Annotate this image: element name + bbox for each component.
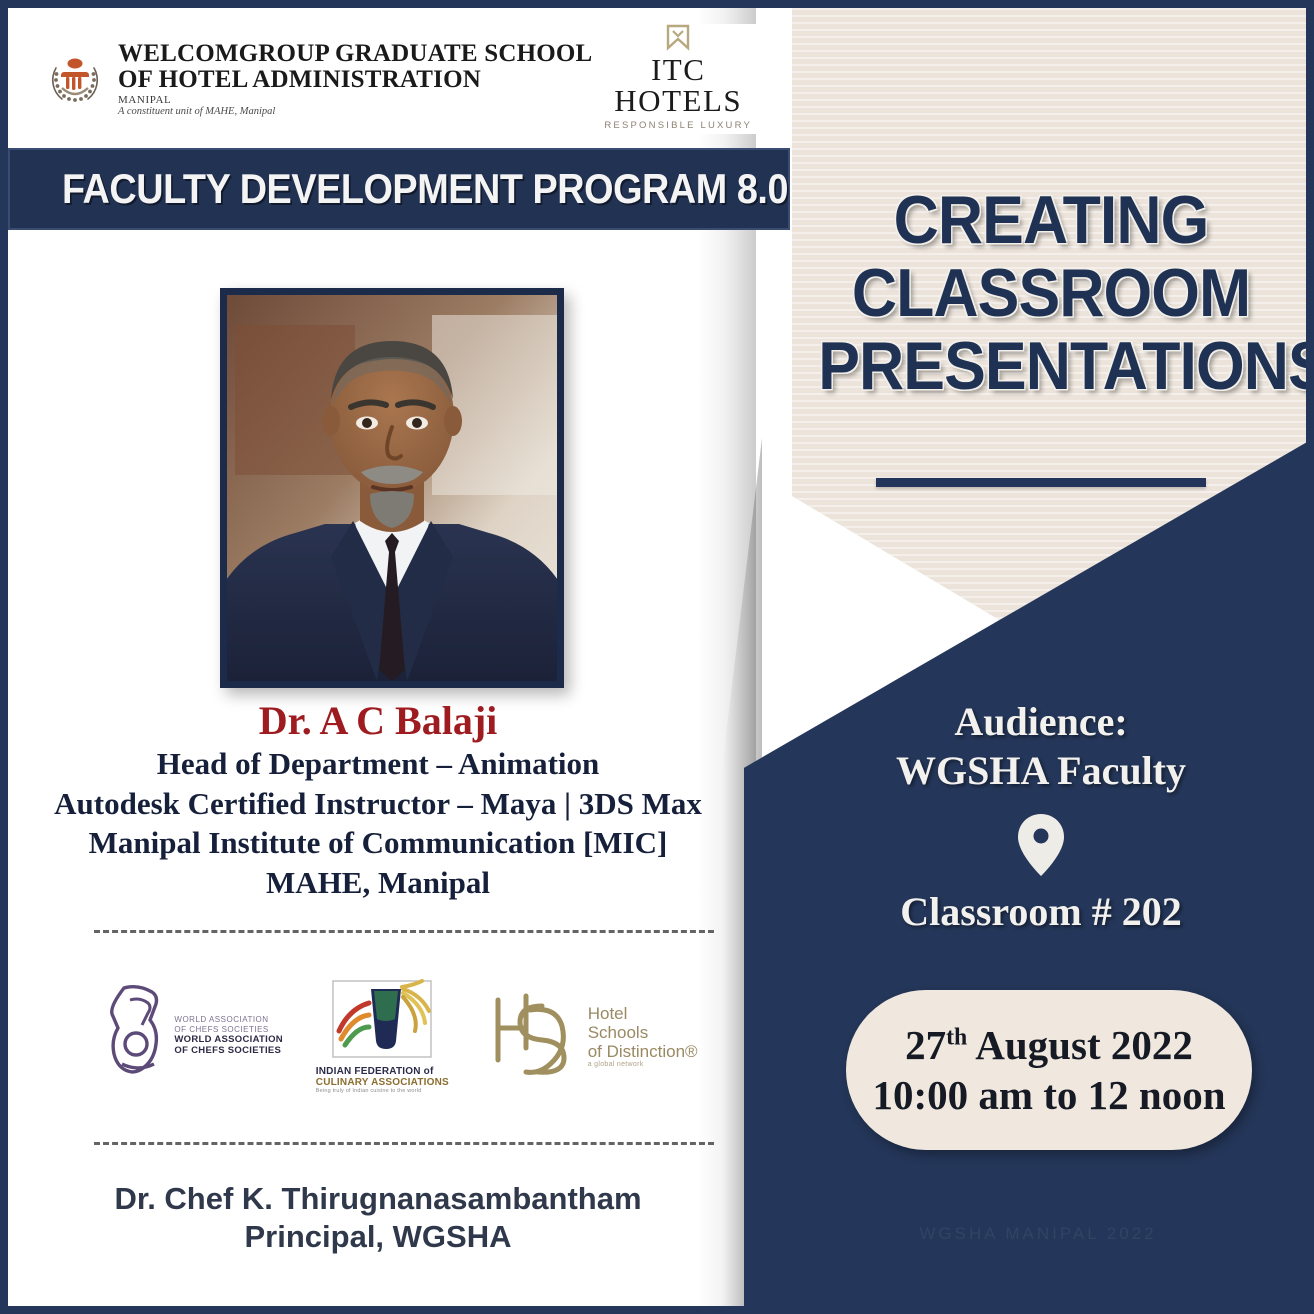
wacs-top-line1: WORLD ASSOCIATION [174,1015,283,1024]
date-time-pill: 27th August 2022 10:00 am to 12 noon [846,990,1252,1150]
principal-name: Dr. Chef K. Thirugnanasambantham [8,1180,748,1218]
partner-logo-wacs: WORLD ASSOCIATION OF CHEFS SOCIETIES WOR… [110,982,283,1091]
fdp-banner-text: FACULTY DEVELOPMENT PROGRAM 8.0 [62,165,788,213]
partner-logos: WORLD ASSOCIATION OF CHEFS SOCIETIES WOR… [94,966,714,1106]
wgsha-crest-icon [44,48,106,110]
wgsha-logo: WELCOMGROUP GRADUATE SCHOOL OF HOTEL ADM… [30,41,592,118]
wacs-name-line1: WORLD ASSOCIATION [174,1034,283,1045]
wacs-chef-icon [110,982,166,1091]
principal-title: Principal, WGSHA [8,1218,748,1256]
itc-hotels-logo: ITC HOTELS RESPONSIBLE LUXURY [592,23,764,135]
hsd-line2: Schools [588,1023,698,1042]
fdp-banner: FACULTY DEVELOPMENT PROGRAM 8.0 [8,148,790,230]
audience-value: WGSHA Faculty [768,747,1306,796]
ifca-emblem-icon [319,979,445,1064]
wgsha-wordmark: WELCOMGROUP GRADUATE SCHOOL OF HOTEL ADM… [118,41,592,118]
hsd-line1: Hotel [588,1004,698,1023]
itc-bookmark-icon [592,23,764,51]
speaker-photo [227,295,557,681]
event-time: 10:00 am to 12 noon [872,1070,1225,1120]
event-poster: WELCOMGROUP GRADUATE SCHOOL OF HOTEL ADM… [0,0,1314,1314]
speaker-photo-frame [220,288,564,688]
divider-below-partners [94,1142,714,1145]
ifca-line2: CULINARY ASSOCIATIONS [316,1077,449,1088]
hsd-line4: a global network [588,1061,698,1069]
session-title: CREATING CLASSROOM PRESENTATIONS [798,184,1304,402]
venue-room: Classroom # 202 [768,888,1306,935]
title-underline-rule [876,478,1206,487]
itc-hotels-name: ITC HOTELS [592,54,764,116]
poster-canvas: WELCOMGROUP GRADUATE SCHOOL OF HOTEL ADM… [8,8,1306,1306]
hsd-wordmark: Hotel Schools of Distinction® a global n… [588,1004,698,1069]
ifca-line3: Being truly of Indian cuisine to the wor… [316,1088,449,1094]
partner-logo-ifca: INDIAN FEDERATION of CULINARY ASSOCIATIO… [316,979,449,1094]
poster-header: WELCOMGROUP GRADUATE SCHOOL OF HOTEL ADM… [30,24,786,134]
ifca-line1: INDIAN FEDERATION of [316,1066,449,1077]
wacs-name-line2: OF CHEFS SOCIETIES [174,1045,283,1056]
speaker-name: Dr. A C Balaji [8,698,748,744]
speaker-certification: Autodesk Certified Instructor – Maya | 3… [8,784,748,824]
session-title-line2: CLASSROOM [818,257,1284,330]
speaker-university: MAHE, Manipal [8,863,748,903]
itc-hotels-tagline: RESPONSIBLE LUXURY [592,120,764,131]
event-date-rest: August 2022 [967,1022,1193,1068]
institution-name-line2: OF HOTEL ADMINISTRATION [118,67,592,92]
institution-name-line1: WELCOMGROUP GRADUATE SCHOOL [118,41,592,66]
audience-label: Audience: [768,698,1306,747]
divider-above-partners [94,930,714,933]
hsd-monogram-icon [482,986,578,1087]
wacs-top-line2: OF CHEFS SOCIETIES [174,1025,283,1034]
ifca-wordmark: INDIAN FEDERATION of CULINARY ASSOCIATIO… [316,1066,449,1094]
event-date-suffix: th [946,1024,967,1050]
partner-logo-hsd: Hotel Schools of Distinction® a global n… [482,986,698,1087]
speaker-designation: Head of Department – Animation [8,744,748,784]
session-title-line1: CREATING [818,184,1284,257]
principal-block: Dr. Chef K. Thirugnanasambantham Princip… [8,1180,748,1256]
speaker-institute: Manipal Institute of Communication [MIC] [8,823,748,863]
session-title-line3: PRESENTATIONS [818,330,1284,403]
institution-affiliation: A constituent unit of MAHE, Manipal [118,107,592,118]
map-pin-icon [1016,812,1066,878]
audience-venue-block: Audience: WGSHA Faculty Classroom # 202 [768,698,1306,935]
institution-campus: MANIPAL [118,95,592,106]
event-date-day: 27 [905,1022,946,1068]
speaker-details: Dr. A C Balaji Head of Department – Anim… [8,698,748,903]
poster-watermark: WGSHA MANIPAL 2022 [828,1224,1248,1244]
event-date: 27th August 2022 [905,1020,1193,1070]
wacs-wordmark: WORLD ASSOCIATION OF CHEFS SOCIETIES WOR… [174,1015,283,1056]
hsd-line3: of Distinction® [588,1042,698,1061]
